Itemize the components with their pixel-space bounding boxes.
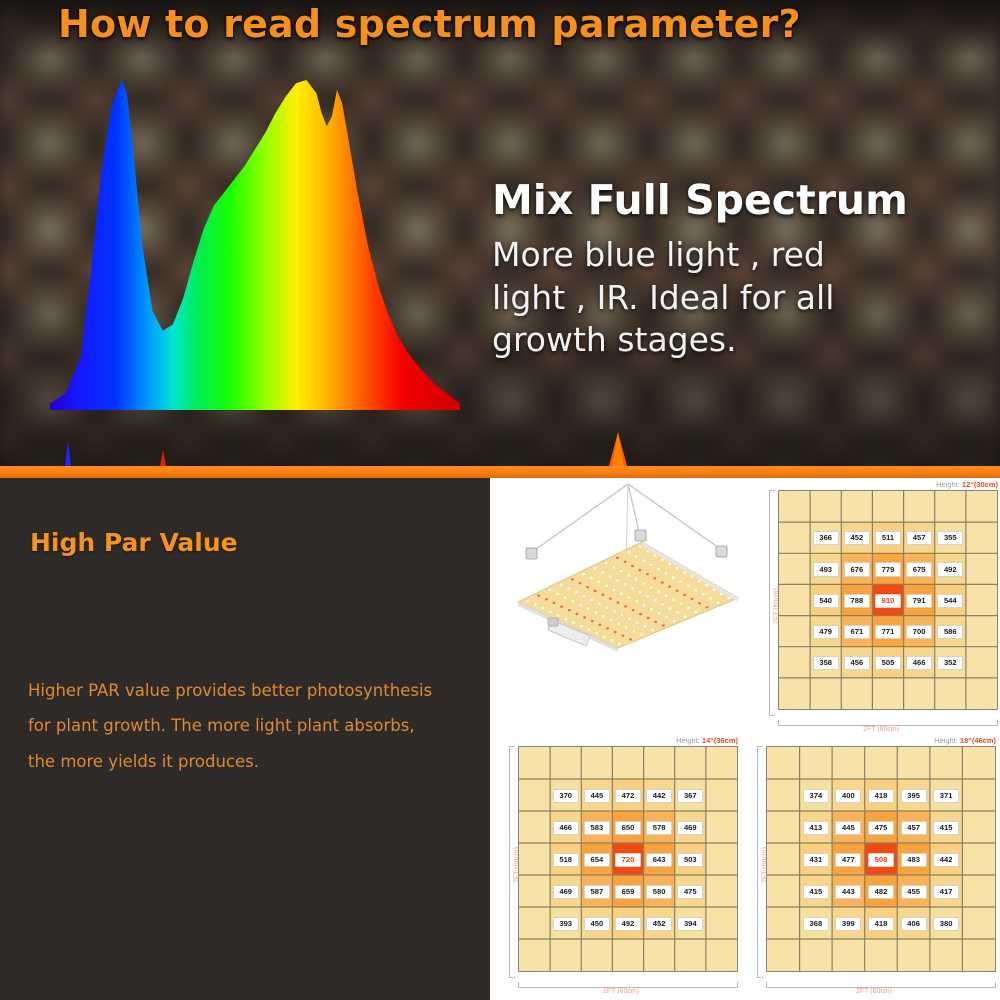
par-cell: 415 (933, 821, 959, 835)
section-divider (0, 466, 1000, 478)
par-cell: 418 (868, 917, 894, 931)
par-cell: 475 (868, 821, 894, 835)
par-cell: 472 (615, 789, 641, 803)
par-cell: 352 (937, 656, 963, 670)
par-cell: 671 (844, 625, 870, 639)
par-cell: 540 (813, 594, 839, 608)
par-cell: 370 (553, 789, 579, 803)
par-cell: 587 (584, 885, 610, 899)
spectrum-copy-block: Mix Full Spectrum More blue light , red … (492, 178, 992, 361)
led-panel-illustration (490, 480, 762, 658)
par-body-line-1: Higher PAR value provides better photosy… (28, 673, 478, 708)
par-cell: 578 (646, 821, 672, 835)
par-cell: 779 (875, 562, 901, 576)
par-grid-18in-height-label: Height: 18"(46cm) (934, 736, 996, 745)
par-cell: 700 (906, 625, 932, 639)
par-cell: 503 (677, 853, 703, 867)
par-value-section: High Par Value Higher PAR value provides… (0, 478, 490, 1000)
par-section-body: Higher PAR value provides better photosy… (28, 673, 478, 779)
par-cell: 477 (835, 853, 861, 867)
par-cell: 393 (553, 917, 579, 931)
par-cell: 583 (584, 821, 610, 835)
par-cell: 443 (835, 885, 861, 899)
spectrum-body: More blue light , red light , IR. Ideal … (492, 234, 992, 361)
par-cell: 399 (835, 917, 861, 931)
par-cell: 368 (803, 917, 829, 931)
par-cell: 457 (906, 531, 932, 545)
par-cell: 910 (875, 594, 901, 608)
par-grid-12in-height-label: Height: 12"(30cm) (936, 480, 998, 489)
par-section-title: High Par Value (30, 528, 238, 557)
par-grid-12in: Height: 12"(30cm) 2FT (60cm) 2FT (60cm) … (762, 480, 1000, 732)
par-grid-14in-height-label: Height: 14"(36cm) (676, 736, 738, 745)
spectrum-section: How to read spectrum parameter? (0, 0, 1000, 478)
par-cell: 720 (615, 853, 641, 867)
par-cell: 475 (677, 885, 703, 899)
par-grid-14in-width-label: 2FT (60cm) (502, 988, 740, 995)
par-grid-18in-board: 3744004183953714134454754574154314775084… (766, 746, 996, 972)
par-cell: 676 (844, 562, 870, 576)
par-cell: 358 (813, 656, 839, 670)
spectrum-body-line-3: growth stages. (492, 319, 992, 361)
par-grid-12in-width-label: 2FT (60cm) (762, 726, 1000, 733)
page-title: How to read spectrum parameter? (58, 2, 801, 46)
par-map-section: Height: 12"(30cm) 2FT (60cm) 2FT (60cm) … (490, 478, 1000, 1000)
par-cell: 791 (906, 594, 932, 608)
spectrum-body-line-1: More blue light , red (492, 234, 992, 276)
mini-peak-orange-icon (605, 432, 631, 466)
par-cell: 469 (677, 821, 703, 835)
par-cell: 456 (844, 656, 870, 670)
par-cell: 493 (813, 562, 839, 576)
par-grid-18in: Height: 18"(46cm) 2FT (60cm) 2FT (60cm) … (750, 736, 998, 994)
par-cell: 395 (901, 789, 927, 803)
par-cell: 483 (901, 853, 927, 867)
par-cell: 355 (937, 531, 963, 545)
par-cell: 580 (646, 885, 672, 899)
par-cell: 650 (615, 821, 641, 835)
spectrum-heading: Mix Full Spectrum (492, 178, 992, 222)
par-cell: 492 (937, 562, 963, 576)
par-grid-14in: Height: 14"(36cm) 2FT (60cm) 2FT (60cm) … (502, 736, 740, 994)
par-grid-14in-board: 3704454724423674665836505784695186547206… (518, 746, 738, 972)
par-cell: 482 (868, 885, 894, 899)
par-cell: 445 (835, 821, 861, 835)
par-grid-18in-width-label: 2FT (60cm) (750, 988, 998, 995)
infographic-page: How to read spectrum parameter? (0, 0, 1000, 1000)
par-grid-12in-board: 3664525114573554936767796754925407889107… (778, 490, 998, 710)
par-cell: 418 (868, 789, 894, 803)
par-cell: 457 (901, 821, 927, 835)
par-cell: 469 (553, 885, 579, 899)
par-cell: 659 (615, 885, 641, 899)
par-body-line-2: for plant growth. The more light plant a… (28, 708, 478, 743)
par-cell: 442 (646, 789, 672, 803)
mini-peak-blue-icon (62, 440, 74, 466)
par-cell: 544 (937, 594, 963, 608)
par-cell: 431 (803, 853, 829, 867)
par-cell: 492 (615, 917, 641, 931)
par-cell: 643 (646, 853, 672, 867)
par-cell: 417 (933, 885, 959, 899)
par-cell: 452 (844, 531, 870, 545)
par-cell: 511 (875, 531, 901, 545)
spectrum-body-line-2: light , IR. Ideal for all (492, 277, 992, 319)
par-cell: 505 (875, 656, 901, 670)
par-cell: 479 (813, 625, 839, 639)
par-cell: 366 (813, 531, 839, 545)
par-cell: 788 (844, 594, 870, 608)
par-cell: 455 (901, 885, 927, 899)
mini-peak-red-icon (158, 450, 168, 466)
par-cell: 771 (875, 625, 901, 639)
par-cell: 406 (901, 917, 927, 931)
par-cell: 413 (803, 821, 829, 835)
par-cell: 586 (937, 625, 963, 639)
par-cell: 466 (906, 656, 932, 670)
par-cell: 394 (677, 917, 703, 931)
par-cell: 450 (584, 917, 610, 931)
par-cell: 675 (906, 562, 932, 576)
par-cell: 508 (868, 853, 894, 867)
par-cell: 466 (553, 821, 579, 835)
par-cell: 452 (646, 917, 672, 931)
par-cell: 415 (803, 885, 829, 899)
par-cell: 518 (553, 853, 579, 867)
par-cell: 400 (835, 789, 861, 803)
par-cell: 442 (933, 853, 959, 867)
par-cell: 371 (933, 789, 959, 803)
spectrum-chart (40, 72, 470, 424)
par-cell: 380 (933, 917, 959, 931)
par-body-line-3: the more yields it produces. (28, 744, 478, 779)
par-cell: 367 (677, 789, 703, 803)
par-cell: 374 (803, 789, 829, 803)
par-cell: 654 (584, 853, 610, 867)
par-cell: 445 (584, 789, 610, 803)
